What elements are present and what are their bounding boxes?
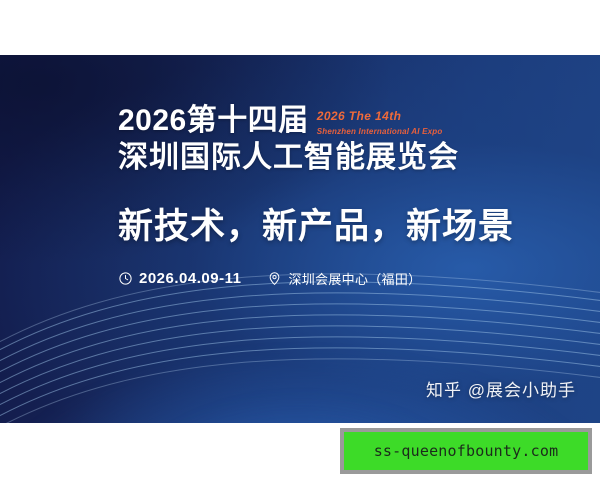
date-text: 2026.04.09-11 [139,270,241,287]
meta-date: 2026.04.09-11 [118,270,241,287]
title-en-line1: 2026 The 14th [317,109,443,125]
title-chinese: 2026第十四届 [118,103,309,138]
poster-slogan: 新技术，新产品，新场景 [118,198,558,249]
poster-content: 2026第十四届 2026 The 14th Shenzhen Internat… [118,103,558,288]
overlay-banner: ss-queenofbounty.com [340,428,592,474]
overlay-banner-inner: ss-queenofbounty.com [344,432,588,470]
title-block: 2026第十四届 2026 The 14th Shenzhen Internat… [118,103,558,138]
venue-text: 深圳会展中心（福田） [288,269,421,288]
title-en-line2: Shenzhen International AI Expo [317,127,443,138]
zhihu-watermark: 知乎 @展会小助手 [426,376,576,401]
clock-icon [118,271,133,286]
title-english: 2026 The 14th Shenzhen International AI … [317,103,443,137]
meta-venue: 深圳会展中心（福田） [267,269,421,288]
poster-meta: 2026.04.09-11 深圳会展中心（福田） [118,269,558,288]
title-cn-line2: 深圳国际人工智能展览会 [118,140,558,175]
title-cn-line1: 2026第十四届 [118,103,309,138]
expo-poster: 2026第十四届 2026 The 14th Shenzhen Internat… [0,55,600,423]
overlay-banner-text: ss-queenofbounty.com [374,442,559,460]
location-pin-icon [267,271,282,286]
